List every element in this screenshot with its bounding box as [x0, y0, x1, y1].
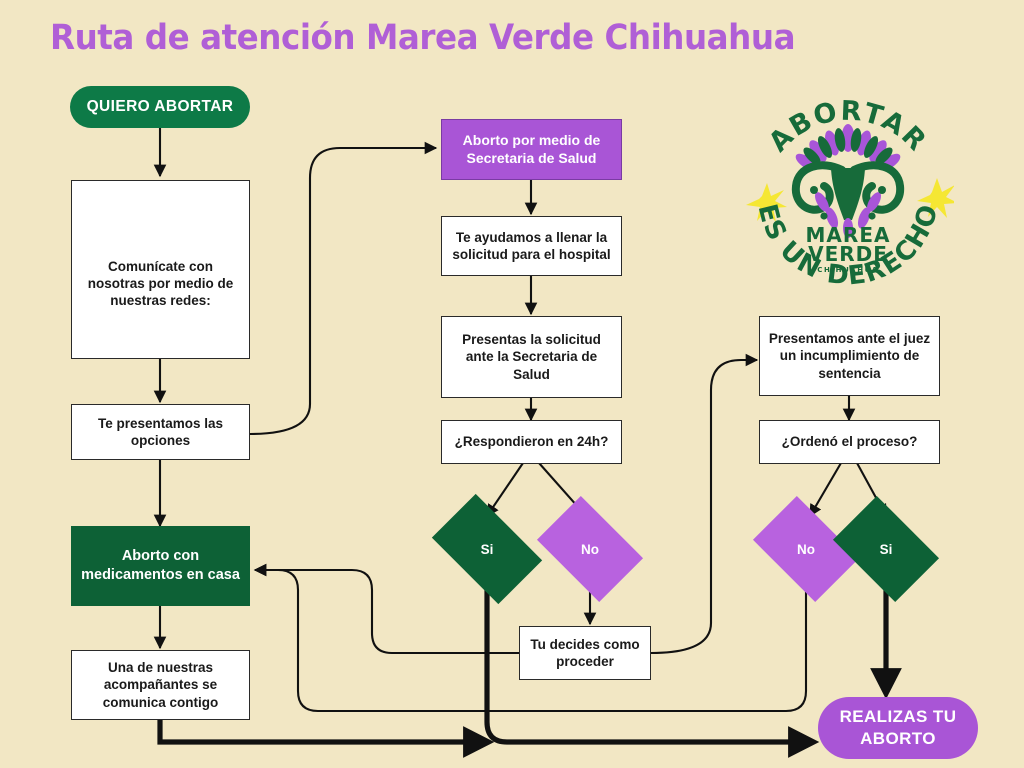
decision-answered-yes[interactable]: Si — [440, 518, 534, 580]
node-options-label: Te presentamos las opciones — [80, 415, 241, 450]
flowchart-canvas: Ruta de atención Marea Verde Chihuahua — [0, 0, 1024, 768]
node-help-form-label: Te ayudamos a llenar la solicitud para e… — [450, 229, 613, 264]
node-companion-label: Una de nuestras acompañantes se comunica… — [80, 659, 241, 711]
node-companion[interactable]: Una de nuestras acompañantes se comunica… — [71, 650, 250, 720]
node-you-decide[interactable]: Tu decides como proceder — [519, 626, 651, 680]
node-judge[interactable]: Presentamos ante el juez un incumplimien… — [759, 316, 940, 396]
node-meds-home[interactable]: Aborto con medicamentos en casa — [71, 526, 250, 606]
node-answered-24h[interactable]: ¿Respondieron en 24h? — [441, 420, 622, 464]
node-contact[interactable]: Comunícate con nosotras por medio de nue… — [71, 180, 250, 359]
decision-answered-yes-label: Si — [481, 542, 494, 557]
decision-ordered-yes-label: Si — [880, 542, 893, 557]
node-judge-label: Presentamos ante el juez un incumplimien… — [768, 330, 931, 382]
logo-name-line2: VERDE — [808, 242, 888, 266]
node-ordered-label: ¿Ordenó el proceso? — [782, 433, 918, 450]
node-meds-home-label: Aborto con medicamentos en casa — [79, 547, 242, 584]
node-options[interactable]: Te presentamos las opciones — [71, 404, 250, 460]
decision-ordered-yes[interactable]: Si — [842, 518, 930, 580]
node-help-form[interactable]: Te ayudamos a llenar la solicitud para e… — [441, 216, 622, 276]
decision-ordered-no[interactable]: No — [762, 518, 850, 580]
node-health-dept[interactable]: Aborto por medio de Secretaria de Salud — [441, 119, 622, 180]
marea-verde-logo: ABORTAR ES UN DERECHO — [742, 86, 954, 286]
node-you-decide-label: Tu decides como proceder — [528, 636, 642, 671]
node-start[interactable]: QUIERO ABORTAR — [70, 86, 250, 128]
decision-answered-no-label: No — [581, 542, 599, 557]
uterus-flower-icon — [793, 124, 903, 238]
node-answered-24h-label: ¿Respondieron en 24h? — [455, 433, 609, 450]
node-end-label: REALIZAS TU ABORTO — [818, 706, 978, 750]
node-contact-label: Comunícate con nosotras por medio de nue… — [80, 258, 241, 310]
node-start-label: QUIERO ABORTAR — [87, 97, 234, 117]
node-end[interactable]: REALIZAS TU ABORTO — [818, 697, 978, 759]
logo-name-line3: CHIHUAHUA — [817, 266, 879, 274]
decision-ordered-no-label: No — [797, 542, 815, 557]
decision-answered-no[interactable]: No — [546, 518, 634, 580]
node-submit-form[interactable]: Presentas la solicitud ante la Secretari… — [441, 316, 622, 398]
node-ordered[interactable]: ¿Ordenó el proceso? — [759, 420, 940, 464]
node-submit-form-label: Presentas la solicitud ante la Secretari… — [450, 331, 613, 383]
node-health-dept-label: Aborto por medio de Secretaria de Salud — [450, 132, 613, 168]
